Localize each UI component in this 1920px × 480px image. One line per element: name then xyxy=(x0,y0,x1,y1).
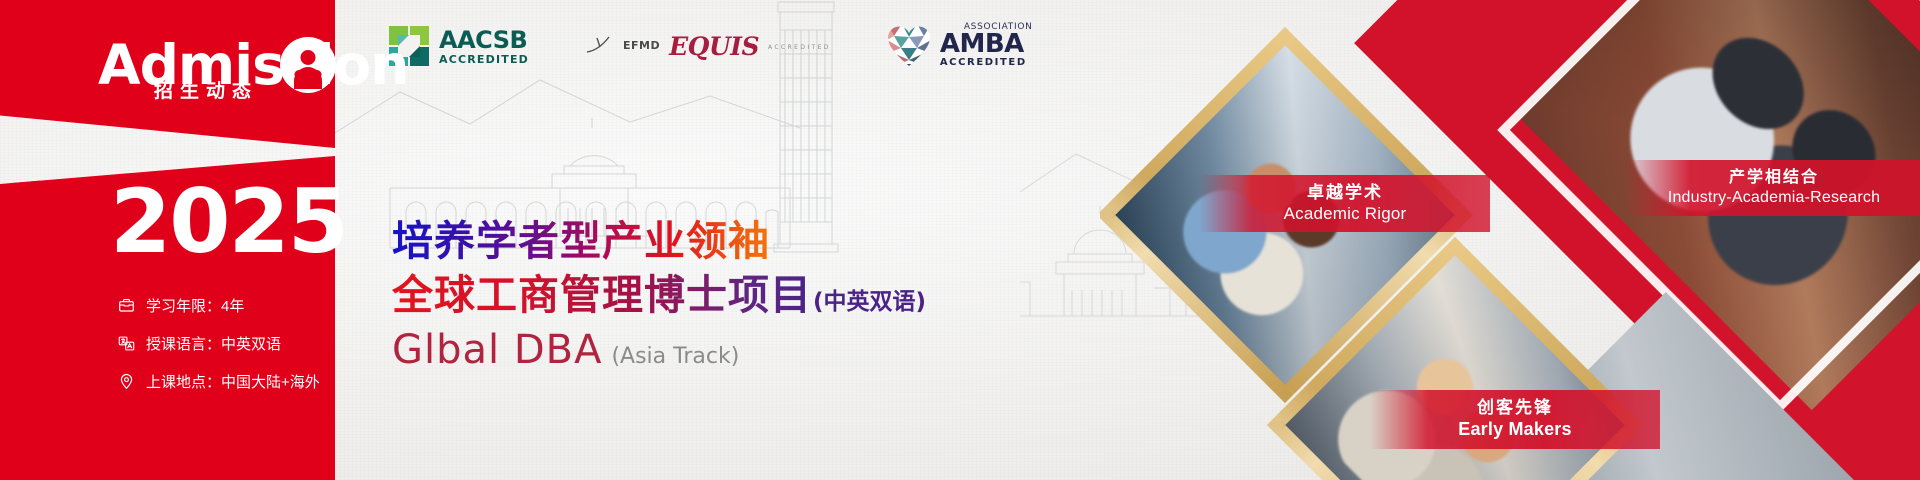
feature-badge-en-label: Academic Rigor xyxy=(1222,204,1468,225)
year-label: 2025 xyxy=(110,176,347,268)
amba-text: ASSOCIATION AMBA ACCREDITED xyxy=(940,24,1027,68)
info-row-label: 授课语言：中英双语 xyxy=(146,333,281,354)
feature-badge-early-makers: 创客先锋 Early Makers xyxy=(1370,390,1660,449)
feature-badge-cn-label: 卓越学术 xyxy=(1222,183,1468,204)
admission-chinese-label: 招生动态 xyxy=(154,76,258,103)
feature-badge-industry-academia: 产学相结合 Industry-Academia-Research xyxy=(1624,160,1920,216)
amba-assoc-label: ASSOCIATION xyxy=(964,23,1033,32)
efmd-swoosh-icon xyxy=(585,35,619,55)
amba-diamond-icon xyxy=(887,24,931,68)
feature-badge-en-label: Industry-Academia-Research xyxy=(1646,188,1902,208)
feature-badge-cn-label: 创客先锋 xyxy=(1392,398,1638,419)
program-title-en-row: Glbal DBA (Asia Track) xyxy=(392,327,926,373)
info-row-duration: 学习年限：4年 xyxy=(118,295,320,316)
program-title-cn: 全球工商管理博士项目 xyxy=(392,271,812,319)
equis-name: EQUIS xyxy=(669,34,759,59)
feature-badge-en-label: Early Makers xyxy=(1392,419,1638,441)
aacsb-sub: ACCREDITED xyxy=(439,54,529,65)
language-icon xyxy=(118,335,135,352)
program-info-list: 学习年限：4年 授课语言：中英双语 上课地点：中国大陆+海外 xyxy=(118,295,320,392)
equis-accreditation-logo: EFMD EQUIS ACCREDITED xyxy=(585,34,831,59)
efmd-label: EFMD xyxy=(623,40,660,51)
admission-banner: 卓越学术 Academic Rigor 产学相结合 Industry-Acade… xyxy=(0,0,1920,480)
person-circle-icon xyxy=(280,37,336,93)
feature-badge-academic-rigor: 卓越学术 Academic Rigor xyxy=(1200,175,1490,232)
location-pin-icon xyxy=(118,373,135,390)
feature-badge-cn-label: 产学相结合 xyxy=(1646,168,1902,188)
calendar-box-icon xyxy=(118,297,135,314)
equis-top-row: EFMD xyxy=(585,35,660,55)
info-row-language: 授课语言：中英双语 xyxy=(118,333,320,354)
program-title-cn-row: 全球工商管理博士项目 (中英双语) xyxy=(392,271,926,319)
aacsb-text: AACSB ACCREDITED xyxy=(439,28,529,65)
equis-sub: ACCREDITED xyxy=(768,45,831,51)
program-title-en-sub: (Asia Track) xyxy=(611,344,739,369)
program-title-cn-suffix: (中英双语) xyxy=(813,282,926,316)
amba-name: AMBA xyxy=(940,31,1027,57)
admission-logo-lockup: Admission 招生动态 xyxy=(98,36,348,120)
aacsb-name: AACSB xyxy=(439,26,527,54)
amba-sub: ACCREDITED xyxy=(940,58,1027,68)
feature-photo-collage: 卓越学术 Academic Rigor 产学相结合 Industry-Acade… xyxy=(1100,0,1920,480)
amba-accreditation-logo: ASSOCIATION AMBA ACCREDITED xyxy=(887,24,1027,68)
aacsb-accreditation-logo: AACSB ACCREDITED xyxy=(388,25,529,67)
info-row-location: 上课地点：中国大陆+海外 xyxy=(118,371,320,392)
accreditation-logos: AACSB ACCREDITED EFMD EQUIS ACCREDITED xyxy=(388,24,1027,68)
headline-block: 培养学者型产业领袖 全球工商管理博士项目 (中英双语) Glbal DBA (A… xyxy=(392,218,926,373)
tagline: 培养学者型产业领袖 xyxy=(392,218,926,264)
info-row-label: 上课地点：中国大陆+海外 xyxy=(146,371,320,392)
program-title-en: Glbal DBA xyxy=(392,327,602,373)
info-row-label: 学习年限：4年 xyxy=(146,295,244,316)
